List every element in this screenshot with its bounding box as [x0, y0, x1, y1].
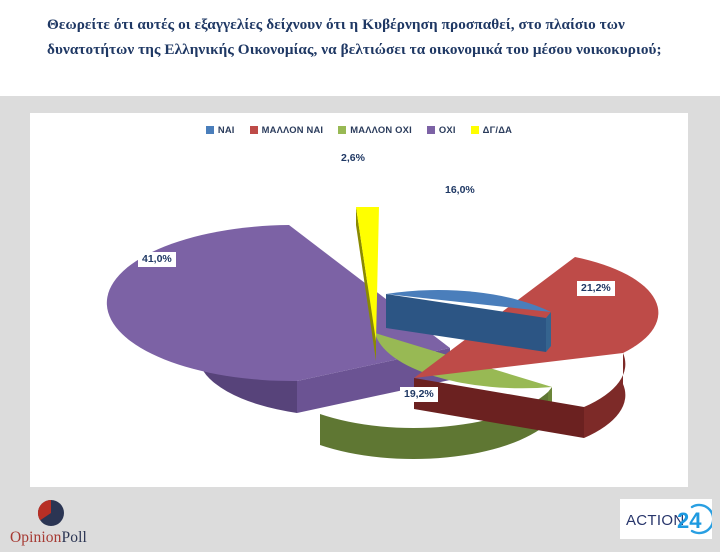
- data-label-dg-da: 2,6%: [341, 153, 365, 164]
- legend-item-label: ΟΧΙ: [439, 124, 456, 135]
- data-label-mallon-nai: 21,2%: [577, 281, 615, 296]
- legend-swatch-icon: [250, 126, 258, 134]
- pie-chart-svg: [30, 141, 688, 487]
- pie-chart: [30, 141, 688, 487]
- footer: OpinionPoll ACTION 24: [0, 487, 720, 552]
- legend-item-dg-da[interactable]: ΔΓ/ΔΑ: [471, 124, 513, 135]
- legend-item-mallon-oxi[interactable]: ΜΑΛΛΟΝ ΟΧΙ: [338, 124, 412, 135]
- data-label-mallon-oxi: 19,2%: [400, 387, 438, 402]
- header-band: Θεωρείτε ότι αυτές οι εξαγγελίες δείχνου…: [0, 0, 720, 96]
- legend-item-label: ΜΑΛΛΟΝ ΟΧΙ: [350, 124, 412, 135]
- legend-swatch-icon: [206, 126, 214, 134]
- opinionpoll-wordmark: OpinionPoll: [10, 529, 87, 547]
- action24-word: ACTION: [626, 512, 684, 529]
- opinionpoll-mark-icon: [36, 498, 66, 528]
- legend-item-mallon-nai[interactable]: ΜΑΛΛΟΝ ΝΑΙ: [250, 124, 324, 135]
- legend-item-label: ΝΑΙ: [218, 124, 235, 135]
- legend-item-label: ΔΓ/ΔΑ: [483, 124, 513, 135]
- action24-logo: ACTION 24: [620, 499, 712, 539]
- legend-swatch-icon: [338, 126, 346, 134]
- legend-swatch-icon: [471, 126, 479, 134]
- action24-logo-icon: ACTION 24: [620, 499, 712, 539]
- legend-item-nai[interactable]: ΝΑΙ: [206, 124, 235, 135]
- legend-item-oxi[interactable]: ΟΧΙ: [427, 124, 456, 135]
- legend-item-label: ΜΑΛΛΟΝ ΝΑΙ: [262, 124, 324, 135]
- page-title: Θεωρείτε ότι αυτές οι εξαγγελίες δείχνου…: [47, 12, 687, 62]
- data-label-nai: 16,0%: [441, 183, 479, 198]
- legend-swatch-icon: [427, 126, 435, 134]
- data-label-oxi: 41,0%: [138, 252, 176, 267]
- chart-legend: ΝΑΙ ΜΑΛΛΟΝ ΝΑΙ ΜΑΛΛΟΝ ΟΧΙ ΟΧΙ ΔΓ/ΔΑ: [30, 124, 688, 135]
- chart-panel: ΝΑΙ ΜΑΛΛΟΝ ΝΑΙ ΜΑΛΛΟΝ ΟΧΙ ΟΧΙ ΔΓ/ΔΑ: [30, 113, 688, 487]
- action24-number: 24: [677, 508, 702, 533]
- opinionpoll-word-opinion: Opinion: [10, 529, 62, 546]
- opinionpoll-word-poll: Poll: [62, 529, 87, 546]
- opinionpoll-logo: OpinionPoll: [8, 496, 138, 548]
